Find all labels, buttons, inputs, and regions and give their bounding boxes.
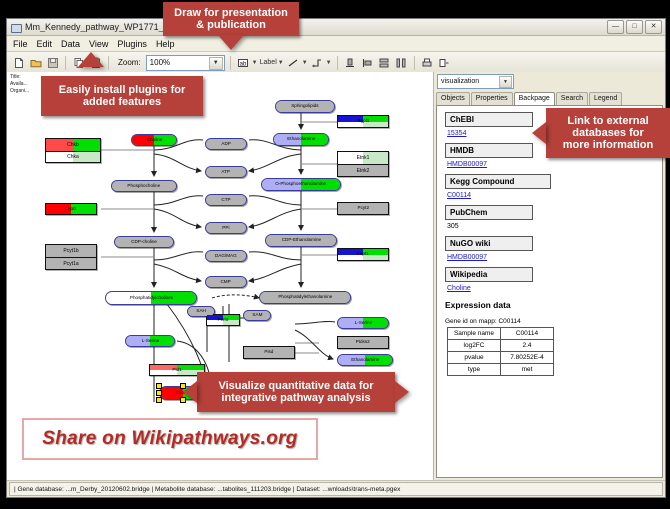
- callout-draw-line2: & publication: [196, 19, 266, 31]
- share-banner-text: Share on Wikipathways.org: [42, 428, 297, 450]
- gene-stack-row[interactable]: Pcyt1a: [46, 257, 96, 269]
- connector-tool[interactable]: ▼: [310, 55, 332, 70]
- callout-visualize-arrow-right-icon: [395, 381, 409, 403]
- print-icon[interactable]: [420, 55, 435, 70]
- menu-item-help[interactable]: Help: [156, 39, 175, 49]
- pathway-gene-label: Sgpl1: [356, 119, 370, 124]
- table-row: type met: [448, 364, 554, 376]
- expression-data-heading: Expression data: [445, 300, 662, 310]
- pathway-gene-label: Pld1: [171, 368, 182, 373]
- callout-link: Link to external databases for more info…: [546, 108, 670, 158]
- table-row: log2FC 2.4: [448, 340, 554, 352]
- toolbar: Zoom: 100% ▼ ab ▼ Label ▼ ▼: [7, 52, 665, 74]
- callout-draw: Draw for presentation & publication: [163, 2, 299, 36]
- pathway-gene-label: Pcyt2: [356, 206, 369, 211]
- pathway-gene-sgpl1[interactable]: Sgpl1: [337, 115, 389, 128]
- pathway-node-label: Ethanolamine: [286, 137, 316, 142]
- line-icon[interactable]: [286, 55, 301, 70]
- pathway-node-atp[interactable]: ATP: [205, 166, 247, 178]
- chevron-down-icon[interactable]: ▼: [499, 76, 512, 88]
- pathway-node-o-phosphoethanolamine[interactable]: O-Phosphoethanolamine: [261, 178, 341, 191]
- backpage-panel[interactable]: ChEBI 15354 HMDB HMDB00097 Kegg Compound…: [436, 105, 663, 478]
- pathway-node-label: SAH: [195, 309, 206, 314]
- pathway-node-label: CMP: [220, 280, 232, 285]
- pathway-gene-chpt1[interactable]: Chpt1: [45, 203, 97, 215]
- close-button[interactable]: ✕: [645, 20, 662, 34]
- pathway-node-phosphocholine[interactable]: Phosphocholine: [111, 180, 177, 192]
- distribute-icon[interactable]: [394, 55, 409, 70]
- pathway-gene-ptdss2[interactable]: Ptdss2: [337, 336, 389, 349]
- db-header-pubchem: PubChem: [445, 205, 533, 220]
- selection-handle[interactable]: [156, 383, 162, 389]
- db-header-wikipedia: Wikipedia: [445, 267, 533, 282]
- expr-val-sample: C00114: [501, 328, 554, 340]
- gene-stack-row-label: Pcyt1a: [63, 261, 78, 267]
- db-link-wikipedia[interactable]: Choline: [447, 285, 662, 292]
- callout-visualize-arrow-icon: [183, 381, 197, 403]
- maximize-button[interactable]: □: [626, 20, 643, 34]
- pathway-node-ctp[interactable]: CTP: [205, 194, 247, 206]
- toolbar-separator-3: [230, 56, 231, 70]
- callout-visualize: Visualize quantitative data for integrat…: [197, 372, 395, 412]
- pathway-node-label: DAG/MAG: [214, 254, 238, 259]
- zoom-combobox[interactable]: 100% ▼: [146, 55, 225, 71]
- pathway-node-label: ATP: [221, 170, 231, 175]
- share-banner: Share on Wikipathways.org: [22, 418, 318, 460]
- visualization-select[interactable]: visualization ▼: [437, 74, 514, 89]
- db-link-nugo[interactable]: HMDB00097: [447, 254, 662, 261]
- pathway-node-sam[interactable]: SAM: [243, 310, 271, 321]
- pathway-gene-label: Pemt: [217, 318, 230, 323]
- side-pane: visualization ▼ Objects Properties Backp…: [434, 72, 665, 480]
- db-header-chebi: ChEBI: [445, 112, 533, 127]
- selection-handle[interactable]: [156, 390, 162, 396]
- pathway-node-label: O-Phosphoethanolamine: [275, 182, 328, 187]
- pathway-gene-cept1[interactable]: Cept1: [337, 248, 389, 261]
- svg-text:ab: ab: [240, 61, 247, 67]
- open-folder-icon[interactable]: [28, 55, 43, 70]
- chevron-down-icon[interactable]: ▼: [209, 57, 223, 70]
- pathway-node-label: PPi: [222, 226, 231, 231]
- zoom-label: Zoom:: [118, 58, 141, 67]
- tab-backpage[interactable]: Backpage: [514, 92, 555, 106]
- callout-link-arrow-icon: [532, 122, 546, 144]
- callout-link-line3: more information: [563, 139, 653, 151]
- pathway-node-adp[interactable]: ADP: [205, 138, 247, 150]
- gene-id-line: Gene id on mapp: C00114: [445, 318, 662, 325]
- toolbar-separator-5: [414, 56, 415, 70]
- pathway-node-cdp-choline[interactable]: CDP-choline: [114, 236, 174, 248]
- gene-stack-row[interactable]: Pcyt1b: [46, 245, 96, 257]
- pathway-gene-stack-etnk[interactable]: Etnk1Etnk2: [337, 151, 389, 177]
- expr-val-type: met: [501, 364, 554, 376]
- title-bar: Mm_Kennedy_pathway_WP1771_45176.gpml — □…: [7, 19, 665, 36]
- chevron-down-icon[interactable]: ▼: [326, 60, 332, 66]
- db-header-kegg: Kegg Compound: [445, 174, 551, 189]
- status-bar: | Gene database: ...m_Derby_20120602.bri…: [7, 480, 665, 497]
- pathway-node-label: CDP-choline: [130, 240, 158, 245]
- callout-plugins: Easily install plugins for added feature…: [41, 76, 203, 116]
- pathway-node-label: Phosphatidylethanolamine: [277, 295, 333, 300]
- pathway-node-label: SAM: [251, 313, 263, 318]
- pathway-gene-stack-pcyt1[interactable]: Pcyt1bPcyt1a: [45, 244, 97, 270]
- pathway-node-label: Phosphatidylcholines: [128, 296, 173, 301]
- chevron-down-icon[interactable]: ▼: [302, 60, 308, 66]
- callout-plugins-arrow-icon: [78, 52, 104, 67]
- pathway-gene-pemt[interactable]: Pemt: [206, 314, 240, 326]
- toolbar-separator-1: [65, 56, 66, 70]
- gene-stack-row-label: Chka: [67, 154, 79, 160]
- pathway-node-dag-mag[interactable]: DAG/MAG: [205, 250, 247, 262]
- pathway-node-phosphatidylethanolamine[interactable]: Phosphatidylethanolamine: [259, 291, 351, 304]
- callout-plugins-line1: Easily install plugins for: [59, 84, 186, 96]
- table-row: Sample name C00114: [448, 328, 554, 340]
- pathway-node-sphingolipids[interactable]: Sphingolipids: [275, 100, 335, 113]
- menu-item-plugins[interactable]: Plugins: [117, 39, 147, 49]
- pathway-node-label: CTP: [220, 198, 231, 203]
- pathway-node-cmp[interactable]: CMP: [205, 276, 247, 288]
- window-controls: — □ ✕: [607, 20, 662, 34]
- menu-item-data[interactable]: Data: [61, 39, 80, 49]
- selection-handle[interactable]: [156, 397, 162, 403]
- pathway-node-ethanolamine[interactable]: Ethanolamine: [273, 133, 329, 146]
- gene-stack-row-label: Pcyt1b: [63, 248, 78, 254]
- pathway-gene-pcyt2[interactable]: Pcyt2: [337, 202, 389, 215]
- pathway-node-ethanolamine-right[interactable]: Ethanolamine: [337, 354, 393, 366]
- pathway-node-label: ADP: [220, 142, 231, 147]
- tab-properties[interactable]: Properties: [471, 92, 513, 105]
- minimize-button[interactable]: —: [607, 20, 624, 34]
- callout-link-line2: databases for: [572, 127, 644, 139]
- db-value-pubchem: 305: [447, 223, 662, 230]
- chevron-down-icon[interactable]: ▼: [252, 60, 258, 66]
- menu-item-edit[interactable]: Edit: [37, 39, 53, 49]
- tab-search[interactable]: Search: [556, 92, 588, 105]
- callout-draw-arrow-icon: [218, 35, 244, 50]
- toolbar-separator-4: [337, 56, 338, 70]
- new-file-icon[interactable]: [11, 55, 26, 70]
- gene-stack-row[interactable]: Etnk2: [338, 164, 388, 176]
- expr-val-pvalue: 7.80252E-4: [501, 352, 554, 364]
- pathway-gene-label: Cept1: [356, 252, 370, 257]
- pathway-node-label: L-Serine: [353, 321, 372, 326]
- callout-plugins-line2: added features: [83, 96, 161, 108]
- chevron-down-icon[interactable]: ▼: [278, 60, 284, 66]
- expr-key-type: type: [448, 364, 501, 376]
- pathway-node-phosphatidylcholines[interactable]: Phosphatidylcholines: [105, 291, 197, 305]
- callout-draw-line1: Draw for presentation: [174, 7, 288, 19]
- align-bottom-icon[interactable]: [343, 55, 358, 70]
- gene-stack-row[interactable]: Chkb: [46, 139, 100, 151]
- callout-visualize-line1: Visualize quantitative data for: [218, 380, 373, 392]
- save-icon[interactable]: [45, 55, 60, 70]
- app-icon: [10, 22, 21, 33]
- pathway-node-label: Sphingolipids: [290, 104, 319, 109]
- menu-item-view[interactable]: View: [89, 39, 108, 49]
- callout-link-line1: Link to external: [567, 115, 648, 127]
- db-header-nugo: NuGO wiki: [445, 236, 533, 251]
- pathway-node-cdp-ethanolamine[interactable]: CDP-Ethanolamine: [265, 234, 337, 247]
- pathway-gene-label: Pisd: [264, 350, 275, 355]
- expr-key-sample: Sample name: [448, 328, 501, 340]
- db-link-hmdb[interactable]: HMDB00097: [447, 161, 662, 168]
- pathway-gene-label: Chpt1: [64, 207, 78, 212]
- line-tool[interactable]: ▼: [286, 55, 308, 70]
- menu-bar: File Edit Data View Plugins Help: [7, 36, 665, 52]
- pathway-node-label: Ethanolamine: [350, 358, 380, 363]
- pathway-node-label: Choline: [145, 138, 162, 143]
- bring-front-icon[interactable]: [437, 55, 452, 70]
- toolbar-separator-2: [108, 56, 109, 70]
- stack-icon[interactable]: [377, 55, 392, 70]
- gene-stack-row[interactable]: Chka: [46, 151, 100, 163]
- pathway-node-label: L-Serine: [140, 339, 159, 344]
- pathway-gene-label: Ptdss2: [355, 340, 371, 345]
- side-pane-tabs: Objects Properties Backpage Search Legen…: [436, 92, 663, 105]
- pathway-node-choline-top[interactable]: Choline: [131, 134, 177, 146]
- expression-table: Sample name C00114 log2FC 2.4 pvalue 7.8…: [447, 327, 554, 376]
- pathway-node-ppi[interactable]: PPi: [205, 222, 247, 234]
- pathway-node-l-serine-left[interactable]: L-Serine: [125, 335, 175, 347]
- tab-legend[interactable]: Legend: [589, 92, 622, 105]
- callout-visualize-line2: integrative pathway analysis: [221, 392, 370, 404]
- gene-stack-row-label: Etnk2: [357, 168, 370, 174]
- zoom-value: 100%: [150, 58, 170, 67]
- label-dropdown[interactable]: Label ▼: [260, 59, 284, 66]
- table-row: pvalue 7.80252E-4: [448, 352, 554, 364]
- gene-stack-row-label: Chkb: [67, 142, 79, 148]
- db-header-hmdb: HMDB: [445, 143, 533, 158]
- gene-stack-row[interactable]: Etnk1: [338, 152, 388, 164]
- gene-stack-row-label: Etnk1: [357, 155, 370, 161]
- visualization-select-value: visualization: [441, 78, 479, 85]
- pathway-node-label: Phosphocholine: [127, 184, 162, 189]
- pathway-gene-stack-chk[interactable]: ChkbChka: [45, 138, 101, 163]
- menu-item-file[interactable]: File: [13, 39, 28, 49]
- expr-key-log2fc: log2FC: [448, 340, 501, 352]
- expr-val-log2fc: 2.4: [501, 340, 554, 352]
- label-dropdown-text: Label: [260, 59, 277, 66]
- connector-icon[interactable]: [310, 55, 325, 70]
- screenshot-root: Mm_Kennedy_pathway_WP1771_45176.gpml — □…: [0, 0, 670, 509]
- text-label-icon[interactable]: ab: [236, 55, 251, 70]
- status-bar-text: | Gene database: ...m_Derby_20120602.bri…: [9, 482, 663, 496]
- db-link-kegg[interactable]: C00114: [447, 192, 662, 199]
- pathway-node-l-serine-right[interactable]: L-Serine: [337, 317, 389, 329]
- expr-key-pvalue: pvalue: [448, 352, 501, 364]
- pathway-node-label: CDP-Ethanolamine: [280, 238, 321, 243]
- pathway-gene-pisd[interactable]: Pisd: [243, 346, 295, 359]
- tab-objects[interactable]: Objects: [436, 92, 470, 105]
- align-left-icon[interactable]: [360, 55, 375, 70]
- text-label-tool[interactable]: ab ▼: [236, 55, 258, 70]
